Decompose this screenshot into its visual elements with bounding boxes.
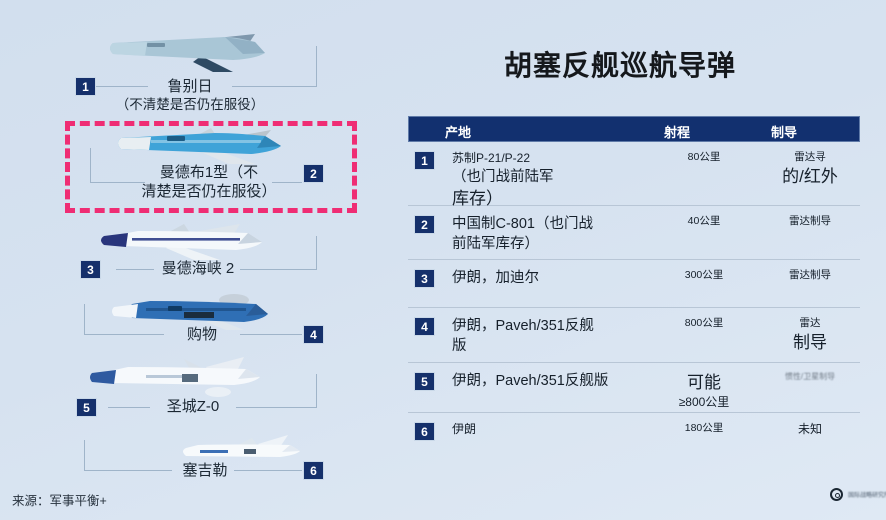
source-note: 来源：军事平衡+ — [12, 490, 107, 509]
column-header-guidance: 制导 — [771, 122, 797, 141]
cell-line: 伊朗，加迪尔 — [452, 268, 652, 288]
cell-line: 中国制C-801（也门战 — [452, 214, 652, 234]
cell-line: （也门战前陆军 — [452, 167, 652, 187]
cell-line: 80公里 — [652, 150, 756, 165]
cell-line: 苏制P-21/P-22 — [452, 150, 652, 167]
cell-guidance: 雷达寻的/红外 — [760, 150, 860, 188]
missile-illustration-1 — [105, 26, 280, 82]
row-badge[interactable]: 1 — [414, 151, 435, 170]
connector-line-5b — [236, 407, 316, 408]
cell-guidance: 雷达制导 — [760, 268, 860, 283]
diagram-label-2-line2: 清楚是否仍在服役） — [118, 182, 300, 201]
cell-origin: 伊朗 — [452, 421, 652, 438]
cell-range: 800公里 — [652, 316, 756, 331]
cell-guidance: 未知 — [760, 421, 860, 438]
connector-line-5c — [316, 374, 317, 408]
diagram-badge-3[interactable]: 3 — [80, 260, 101, 279]
cell-line: 伊朗，Paveh/351反舰 — [452, 316, 652, 336]
cell-origin: 伊朗，加迪尔 — [452, 268, 652, 288]
infographic-canvas: 1 鲁别日 （不清楚是否仍在服役） 2 曼德布1型（不 清楚是否仍在服役） — [0, 0, 886, 520]
table-row: 3伊朗，加迪尔300公里雷达制导 — [408, 260, 860, 308]
cell-line: 制导 — [760, 331, 860, 354]
cell-line: 版 — [452, 336, 652, 356]
cell-line: ≥800公里 — [652, 394, 756, 411]
cell-line: 雷达制导 — [760, 214, 860, 229]
missile-specs-table: 产地 射程 制导 1苏制P-21/P-22（也门战前陆军库存）80公里雷达寻的/… — [408, 116, 860, 461]
connector-line-4c — [240, 334, 302, 335]
diagram-label-3: 曼德海峡 2 — [157, 259, 239, 278]
table-row: 2中国制C-801（也门战前陆军库存）40公里雷达制导 — [408, 206, 860, 260]
cell-line: 雷达制导 — [760, 268, 860, 283]
connector-line-1b — [232, 86, 316, 87]
row-badge[interactable]: 5 — [414, 372, 435, 391]
cell-line: 40公里 — [652, 214, 756, 229]
connector-line-3a — [116, 269, 154, 270]
cell-guidance: 雷达制导 — [760, 214, 860, 229]
page-title: 胡塞反舰巡航导弹 — [504, 44, 736, 84]
diagram-label-1: 鲁别日 — [150, 77, 230, 96]
column-header-origin: 产地 — [445, 122, 471, 141]
publisher-logo: 国际战略研究所 — [830, 488, 886, 501]
diagram-label-6: 塞吉勒 — [174, 461, 236, 480]
cell-range: 180公里 — [652, 421, 756, 436]
connector-line-6b — [84, 470, 172, 471]
cell-line: 的/红外 — [760, 165, 860, 188]
connector-line-2a — [90, 148, 91, 182]
table-row: 1苏制P-21/P-22（也门战前陆军库存）80公里雷达寻的/红外 — [408, 142, 860, 206]
diagram-badge-4[interactable]: 4 — [303, 325, 324, 344]
connector-line-3c — [316, 236, 317, 270]
cell-line: 可能 — [652, 371, 756, 394]
connector-line-1c — [316, 46, 317, 87]
connector-line-5a — [108, 407, 150, 408]
row-badge[interactable]: 3 — [414, 269, 435, 288]
cell-origin: 伊朗，Paveh/351反舰版 — [452, 371, 652, 391]
cell-line: 未知 — [760, 421, 860, 438]
diagram-sublabel-1: （不清楚是否仍在服役） — [90, 96, 290, 113]
diagram-badge-1[interactable]: 1 — [75, 77, 96, 96]
cell-line: 伊朗，Paveh/351反舰版 — [452, 371, 652, 391]
connector-line-4b — [84, 334, 164, 335]
cell-origin: 苏制P-21/P-22（也门战前陆军库存） — [452, 150, 652, 210]
missile-diagram-panel: 1 鲁别日 （不清楚是否仍在服役） 2 曼德布1型（不 清楚是否仍在服役） — [0, 0, 400, 520]
cell-line: 180公里 — [652, 421, 756, 436]
cell-range: 40公里 — [652, 214, 756, 229]
diagram-label-4: 购物 — [172, 325, 232, 344]
cell-line: 雷达 — [760, 316, 860, 331]
cell-origin: 中国制C-801（也门战前陆军库存） — [452, 214, 652, 254]
connector-line-3b — [240, 269, 316, 270]
logo-text: 国际战略研究所 — [848, 490, 886, 499]
cell-line: 800公里 — [652, 316, 756, 331]
cell-range: 300公里 — [652, 268, 756, 283]
cell-origin: 伊朗，Paveh/351反舰版 — [452, 316, 652, 356]
table-row: 6伊朗180公里未知 — [408, 413, 860, 461]
table-row: 5伊朗，Paveh/351反舰版可能≥800公里惯性/卫星制导 — [408, 363, 860, 413]
cell-line: 300公里 — [652, 268, 756, 283]
diagram-label-2-line1: 曼德布1型（不 — [147, 163, 271, 182]
connector-line-1a — [96, 86, 148, 87]
table-row: 4伊朗，Paveh/351反舰版800公里雷达制导 — [408, 308, 860, 363]
connector-line-6c — [234, 470, 302, 471]
cell-range: 可能≥800公里 — [652, 371, 756, 411]
diagram-badge-5[interactable]: 5 — [76, 398, 97, 417]
row-badge[interactable]: 6 — [414, 422, 435, 441]
cell-line: 伊朗 — [452, 421, 652, 438]
table-body: 1苏制P-21/P-22（也门战前陆军库存）80公里雷达寻的/红外2中国制C-8… — [408, 142, 860, 461]
cell-line: 前陆军库存） — [452, 234, 652, 254]
connector-line-4a — [84, 304, 85, 334]
column-header-range: 射程 — [664, 122, 690, 141]
connector-line-6a — [84, 440, 85, 470]
table-header-row: 产地 射程 制导 — [408, 116, 860, 142]
cell-guidance: 惯性/卫星制导 — [760, 371, 860, 383]
cell-line: 惯性/卫星制导 — [760, 371, 860, 383]
table-panel: 胡塞反舰巡航导弹 产地 射程 制导 1苏制P-21/P-22（也门战前陆军库存）… — [400, 0, 886, 520]
row-badge[interactable]: 2 — [414, 215, 435, 234]
cell-line: 雷达寻 — [760, 150, 860, 165]
row-badge[interactable]: 4 — [414, 317, 435, 336]
diagram-label-5: 圣城Z-0 — [152, 397, 234, 416]
cell-range: 80公里 — [652, 150, 756, 165]
cell-guidance: 雷达制导 — [760, 316, 860, 354]
diagram-badge-2[interactable]: 2 — [303, 164, 324, 183]
iiss-circle-icon — [830, 488, 843, 501]
diagram-badge-6[interactable]: 6 — [303, 461, 324, 480]
